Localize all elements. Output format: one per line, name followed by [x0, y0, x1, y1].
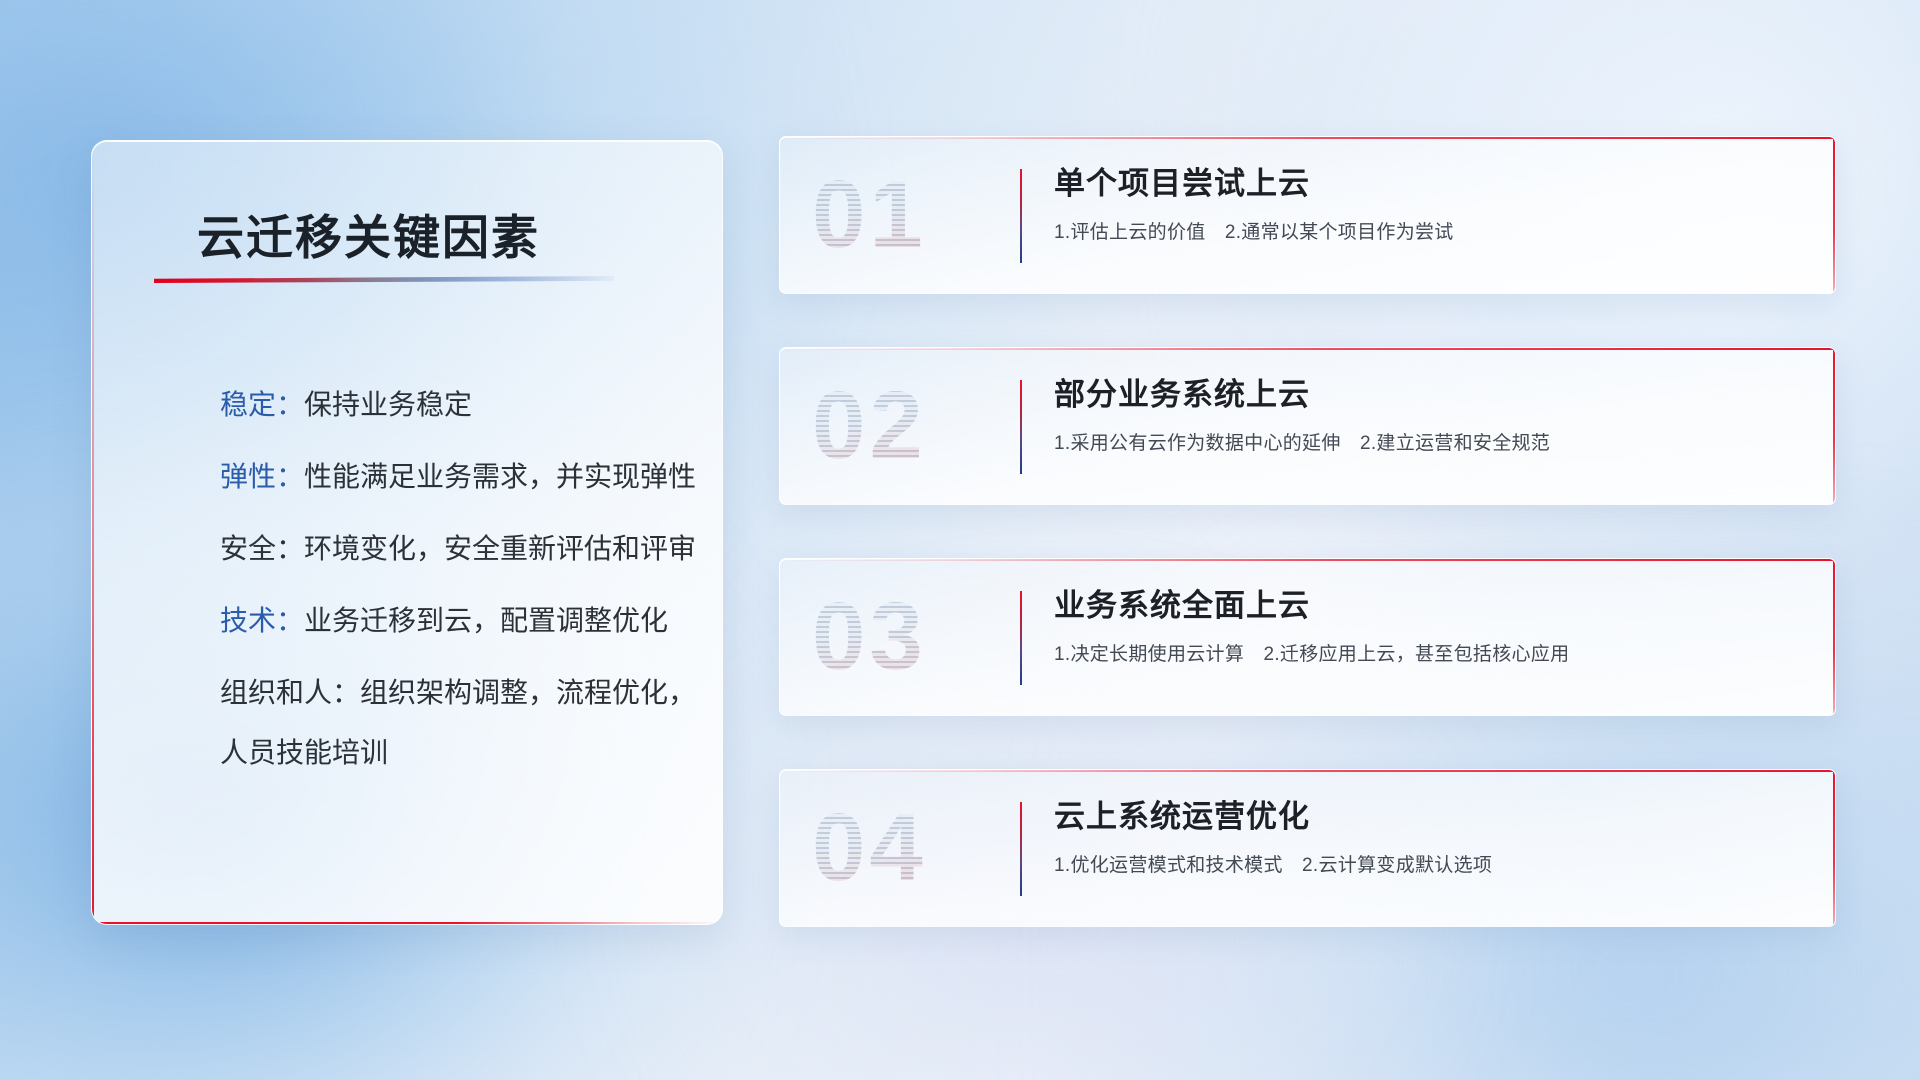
step-card-03[interactable]: 0303业务系统全面上云1.决定长期使用云计算 2.迁移应用上云，甚至包括核心应…	[779, 558, 1836, 716]
step-divider-bar	[1020, 380, 1022, 474]
step-card-04[interactable]: 0404云上系统运营优化1.优化运营模式和技术模式 2.云计算变成默认选项	[779, 769, 1836, 927]
step-divider-bar	[1020, 802, 1022, 896]
step-description: 1.决定长期使用云计算 2.迁移应用上云，甚至包括核心应用	[1054, 643, 1795, 668]
factor-row: 弹性：性能满足业务需求，并实现弹性	[220, 463, 682, 491]
step-divider-bar	[1020, 169, 1022, 263]
step-title: 业务系统全面上云	[1054, 589, 1795, 624]
factor-value: 组织架构调整，流程优化，	[360, 677, 696, 708]
factor-value: 业务迁移到云，配置调整优化	[304, 605, 668, 636]
factor-list: 稳定：保持业务稳定弹性：性能满足业务需求，并实现弹性安全：环境变化，安全重新评估…	[220, 391, 682, 767]
factor-key: 弹性：	[220, 461, 304, 492]
factor-row: 稳定：保持业务稳定	[220, 391, 682, 419]
migration-stage-list: 0101单个项目尝试上云1.评估上云的价值 2.通常以某个项目作为尝试0202部…	[779, 136, 1836, 927]
factor-row: 技术：业务迁移到云，配置调整优化	[220, 607, 682, 635]
step-description: 1.优化运营模式和技术模式 2.云计算变成默认选项	[1054, 854, 1795, 879]
key-factors-panel: 云迁移关键因素 稳定：保持业务稳定弹性：性能满足业务需求，并实现弹性安全：环境变…	[91, 140, 723, 925]
step-card-01[interactable]: 0101单个项目尝试上云1.评估上云的价值 2.通常以某个项目作为尝试	[779, 136, 1836, 294]
factor-value: 环境变化，安全重新评估和评审	[304, 533, 696, 564]
factor-value: 保持业务稳定	[304, 389, 472, 420]
step-divider-bar	[1020, 591, 1022, 685]
factor-key: 稳定：	[220, 389, 304, 420]
step-body: 部分业务系统上云1.采用公有云作为数据中心的延伸 2.建立运营和安全规范	[1054, 378, 1795, 456]
factor-row: 组织和人：组织架构调整，流程优化，	[220, 679, 682, 707]
step-card-02[interactable]: 0202部分业务系统上云1.采用公有云作为数据中心的延伸 2.建立运营和安全规范	[779, 347, 1836, 505]
step-body: 业务系统全面上云1.决定长期使用云计算 2.迁移应用上云，甚至包括核心应用	[1054, 589, 1795, 667]
slide-stage: 云迁移关键因素 稳定：保持业务稳定弹性：性能满足业务需求，并实现弹性安全：环境变…	[0, 0, 1920, 1080]
title-underline-accent	[154, 276, 614, 283]
step-number-tint-overlay: 03	[812, 581, 982, 693]
step-description: 1.评估上云的价值 2.通常以某个项目作为尝试	[1054, 221, 1795, 246]
factor-row: 人员技能培训	[220, 739, 682, 767]
step-description: 1.采用公有云作为数据中心的延伸 2.建立运营和安全规范	[1054, 432, 1795, 457]
step-title: 部分业务系统上云	[1054, 378, 1795, 413]
factor-key: 安全：	[220, 533, 304, 564]
factor-value: 性能满足业务需求，并实现弹性	[304, 461, 696, 492]
step-number-tint-overlay: 02	[812, 370, 982, 482]
step-body: 单个项目尝试上云1.评估上云的价值 2.通常以某个项目作为尝试	[1054, 167, 1795, 245]
panel-title: 云迁移关键因素	[197, 199, 540, 268]
step-title: 单个项目尝试上云	[1054, 167, 1795, 202]
step-number-tint-overlay: 04	[812, 792, 982, 904]
step-number-tint-overlay: 01	[812, 159, 982, 271]
step-title: 云上系统运营优化	[1054, 800, 1795, 835]
factor-value: 人员技能培训	[220, 737, 388, 768]
factor-key: 组织和人：	[220, 677, 360, 708]
factor-key: 技术：	[220, 605, 304, 636]
step-body: 云上系统运营优化1.优化运营模式和技术模式 2.云计算变成默认选项	[1054, 800, 1795, 878]
factor-row: 安全：环境变化，安全重新评估和评审	[220, 535, 682, 563]
